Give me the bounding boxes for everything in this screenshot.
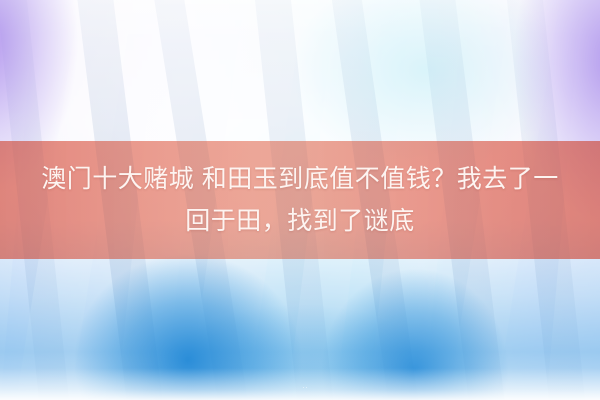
page-title-line-2: 回于田，找到了谜底 — [185, 202, 415, 240]
article-title-banner: 澳门十大赌城 和田玉到底值不值钱？我去了一 回于田，找到了谜底 ·· — [0, 0, 600, 400]
page-title: 澳门十大赌城 和田玉到底值不值钱？我去了一 回于田，找到了谜底 — [0, 141, 600, 259]
page-title-line-1: 澳门十大赌城 和田玉到底值不值钱？我去了一 — [41, 160, 558, 198]
bottom-watermark: ·· — [292, 382, 318, 393]
